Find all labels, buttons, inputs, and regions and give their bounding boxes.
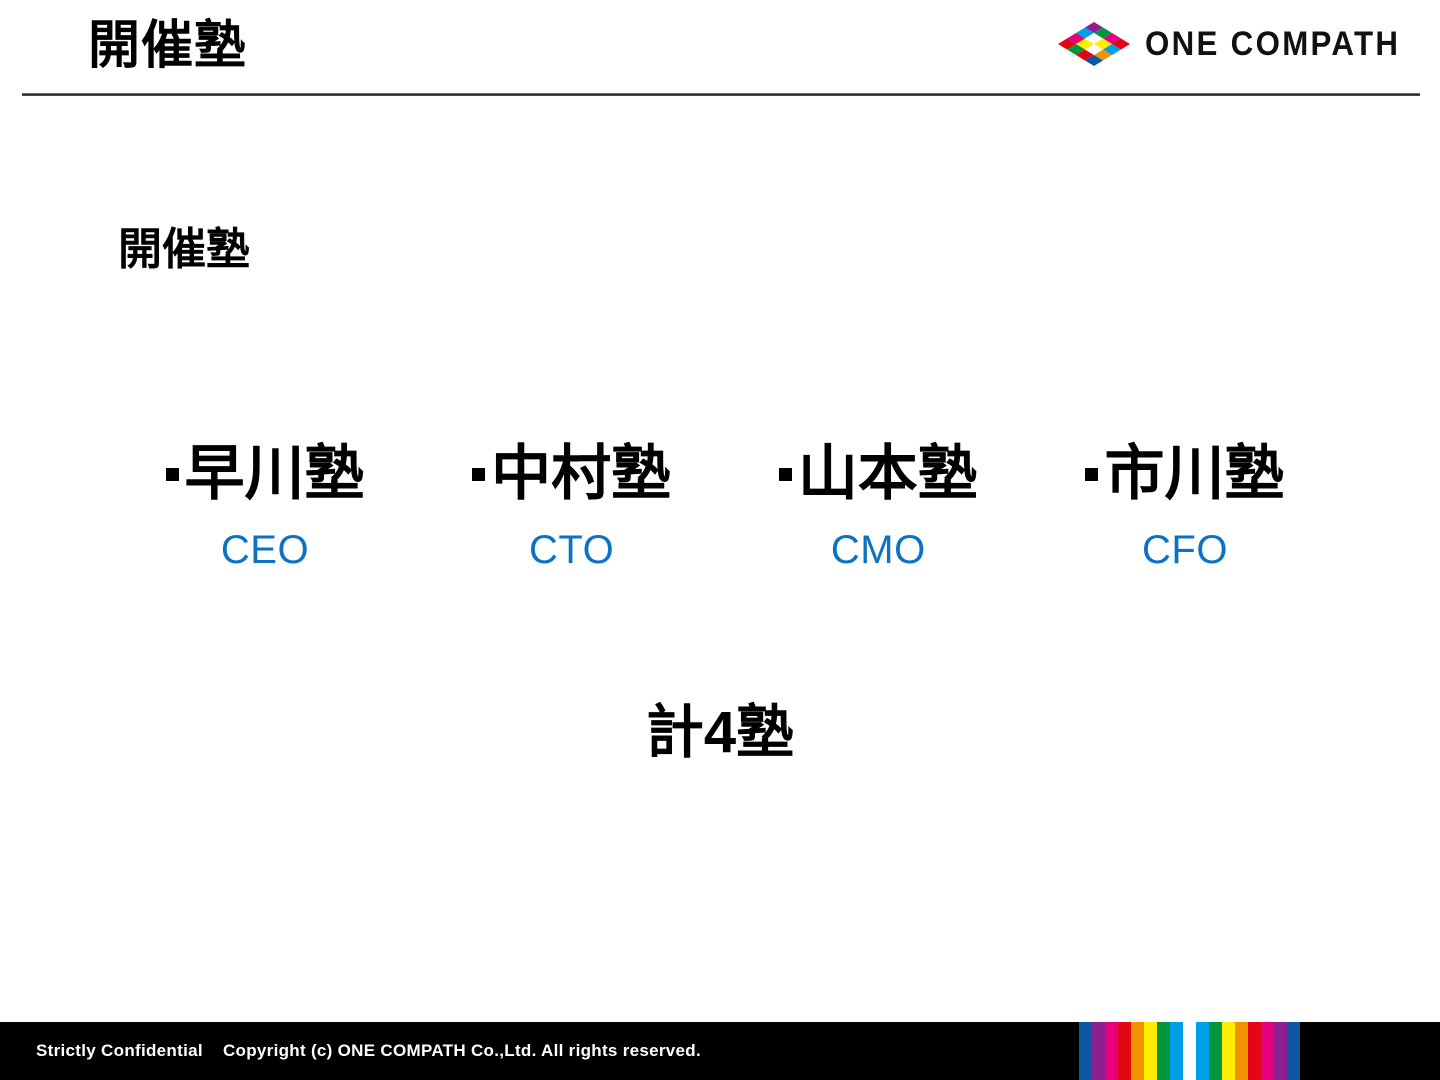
juku-name-2: 山本塾 [779,435,978,513]
juku-name-0: 早川塾 [166,435,365,513]
juku-role-2: CMO [831,527,926,573]
footer-color-bar-2 [1105,1022,1118,1080]
juku-name-label-1: 中村塾 [491,435,671,513]
juku-name-label-2: 山本塾 [798,435,978,513]
total-count-label: 計4塾 [0,695,1440,771]
list-item: 山本塾 CMO [733,435,1023,573]
juku-name-1: 中村塾 [472,435,671,513]
page-title: 開催塾 [88,14,247,78]
list-item: 早川塾 CEO [120,435,410,573]
footer-color-bar-5 [1144,1022,1157,1080]
bullet-square-icon [166,468,179,481]
bullet-square-icon [1085,468,1098,481]
footer-color-bar-14 [1261,1022,1274,1080]
slide-header: 開催塾 [0,0,1440,100]
header-divider [22,93,1420,96]
footer-color-bar-15 [1274,1022,1287,1080]
footer-color-bar-12 [1235,1022,1248,1080]
footer-color-bars [1079,1022,1300,1080]
juku-name-3: 市川塾 [1085,435,1284,513]
footer-color-bar-8 [1183,1022,1196,1080]
copyright-text: Strictly Confidential Copyright (c) ONE … [36,1041,701,1061]
list-item: 中村塾 CTO [427,435,717,573]
juku-name-label-3: 市川塾 [1104,435,1284,513]
footer-color-bar-10 [1209,1022,1222,1080]
logo-wordmark: ONE COMPATH [1145,27,1400,61]
footer-color-bar-4 [1131,1022,1144,1080]
juku-list: 早川塾 CEO 中村塾 CTO 山本塾 CMO 市川塾 CFO [120,435,1330,573]
footer-color-bar-13 [1248,1022,1261,1080]
slide-footer: Strictly Confidential Copyright (c) ONE … [0,1022,1440,1080]
one-compath-diamond-logo [1057,21,1131,67]
footer-color-bar-9 [1196,1022,1209,1080]
juku-role-1: CTO [529,527,614,573]
section-heading: 開催塾 [118,222,250,278]
juku-name-label-0: 早川塾 [185,435,365,513]
footer-color-bar-3 [1118,1022,1131,1080]
brand-logo: ONE COMPATH [1057,18,1422,70]
juku-role-0: CEO [221,527,309,573]
footer-color-bar-1 [1092,1022,1105,1080]
footer-color-bar-6 [1157,1022,1170,1080]
bullet-square-icon [472,468,485,481]
footer-color-bar-7 [1170,1022,1183,1080]
juku-role-3: CFO [1142,527,1228,573]
footer-color-bar-16 [1287,1022,1300,1080]
footer-color-bar-0 [1079,1022,1092,1080]
bullet-square-icon [779,468,792,481]
footer-color-bar-11 [1222,1022,1235,1080]
list-item: 市川塾 CFO [1040,435,1330,573]
